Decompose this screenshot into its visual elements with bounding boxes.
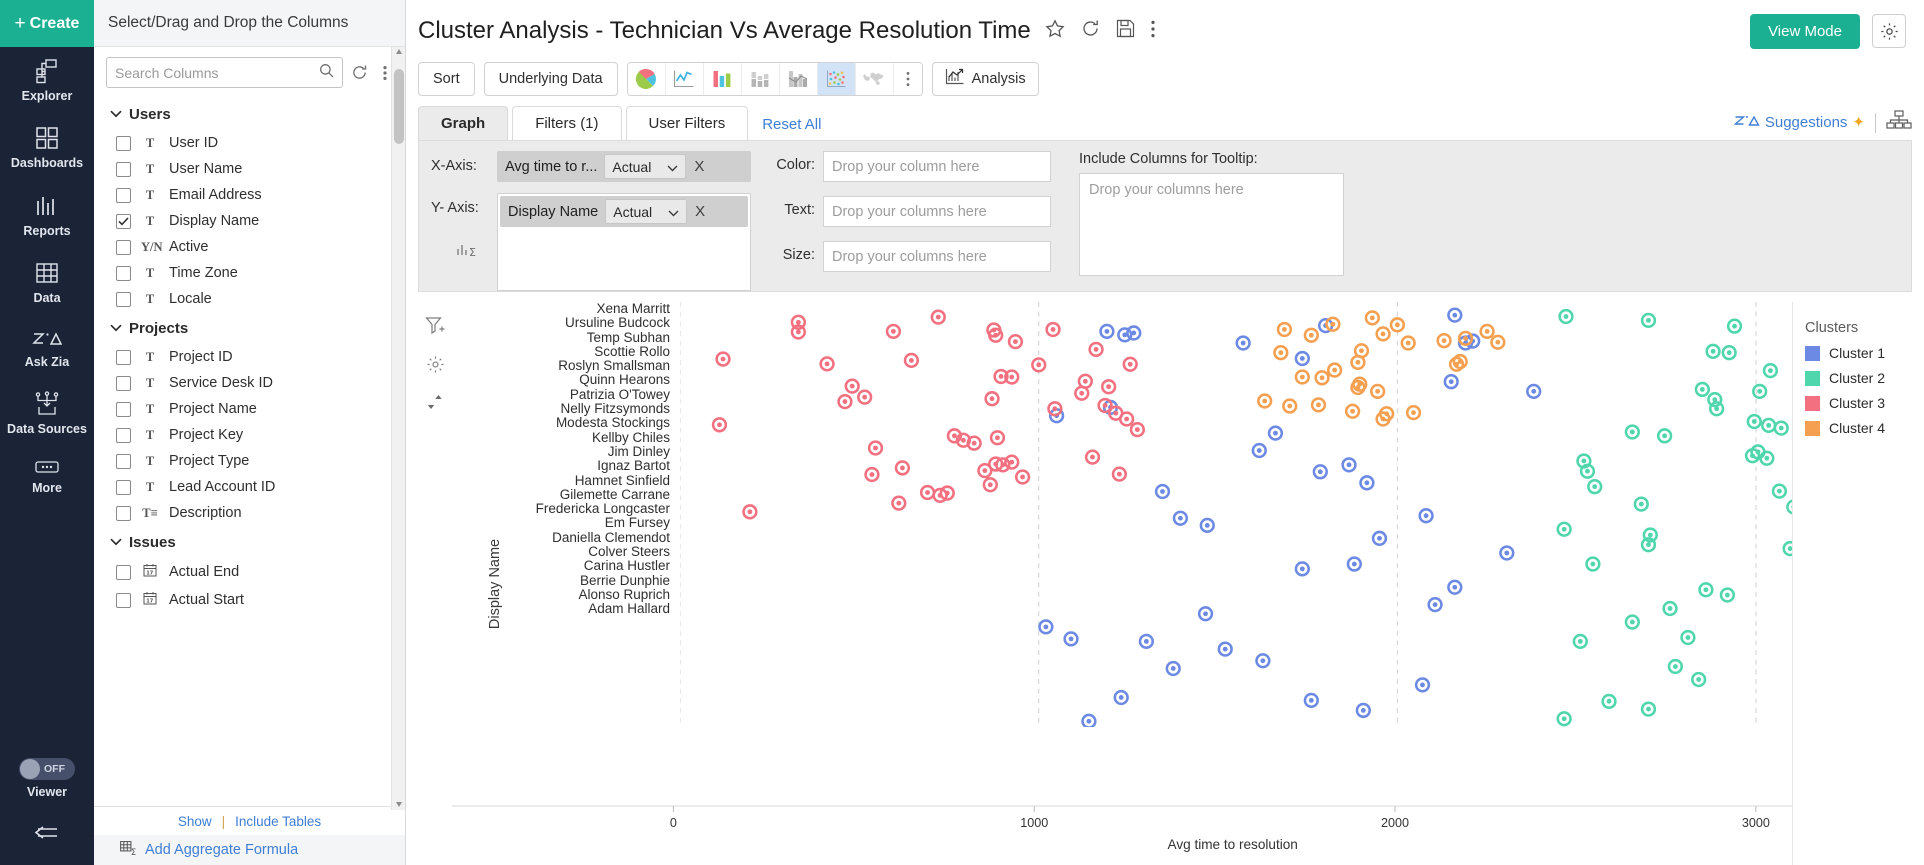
column-checkbox[interactable] xyxy=(116,454,131,469)
scatter-point[interactable] xyxy=(1560,310,1573,323)
scatter-point[interactable] xyxy=(1491,336,1504,349)
y-axis-pillbox[interactable]: Display Name Actual X xyxy=(497,193,751,291)
y-tick-label: Nelly Fitzsymonds xyxy=(470,402,670,416)
scatter-point[interactable] xyxy=(839,395,852,408)
sidebar-item-data[interactable]: Data xyxy=(0,249,94,316)
scroll-down-arrow[interactable] xyxy=(396,802,402,807)
sidebar-item-explorer[interactable]: Explorer xyxy=(0,47,94,114)
add-filter-icon[interactable] xyxy=(425,316,445,341)
scatter-point[interactable] xyxy=(1102,380,1115,393)
column-row[interactable]: TLead Account ID xyxy=(94,474,405,500)
sort-toggle-icon[interactable] xyxy=(426,393,444,416)
viewer-toggle[interactable]: OFF xyxy=(19,758,75,780)
analysis-icon xyxy=(945,68,965,90)
scatter-point[interactable] xyxy=(1118,328,1131,341)
scatter-point[interactable] xyxy=(1090,343,1103,356)
gear-icon[interactable] xyxy=(1872,14,1906,48)
column-checkbox[interactable] xyxy=(116,292,131,307)
column-label: Project Type xyxy=(169,453,249,469)
column-checkbox[interactable] xyxy=(116,162,131,177)
columns-panel: Select/Drag and Drop the Columns xyxy=(94,0,406,865)
column-checkbox[interactable] xyxy=(116,506,131,521)
scatter-point[interactable] xyxy=(986,392,999,405)
scatter-point[interactable] xyxy=(1603,695,1616,708)
scatter-point[interactable] xyxy=(1040,621,1053,634)
svg-text:17: 17 xyxy=(146,571,153,577)
column-label: Project ID xyxy=(169,349,233,365)
column-group-projects[interactable]: Projects xyxy=(94,312,405,344)
scatter-point[interactable] xyxy=(896,462,909,475)
scatter-point[interactable] xyxy=(1707,345,1720,358)
scatter-point[interactable] xyxy=(1296,562,1309,575)
scatter-point[interactable] xyxy=(1527,385,1540,398)
chart-tool-rail xyxy=(418,302,452,865)
x-axis-pillbox[interactable]: Avg time to r... Actual X xyxy=(497,151,751,182)
sidebar-item-ask-zia[interactable]: Ask Zia xyxy=(0,317,94,380)
y-tick-label: Patrizia O'Towey xyxy=(470,388,670,402)
scatter-point[interactable] xyxy=(869,442,882,455)
scatter-point[interactable] xyxy=(978,464,991,477)
scatter-point[interactable] xyxy=(984,478,997,491)
kebab-menu-icon[interactable] xyxy=(1151,20,1155,43)
tab-graph[interactable]: Graph xyxy=(418,106,508,140)
chevron-down-icon xyxy=(668,204,679,220)
scatter-point[interactable] xyxy=(1420,509,1433,522)
scatter-point[interactable] xyxy=(1343,458,1356,471)
scatter-point[interactable] xyxy=(1626,616,1639,629)
data-sources-icon xyxy=(33,391,61,417)
scatter-point[interactable] xyxy=(1635,498,1648,511)
tab-user-filters[interactable]: User Filters xyxy=(626,106,749,140)
refresh-icon[interactable] xyxy=(1081,19,1100,43)
data-icon xyxy=(34,260,60,286)
collapse-sidebar-button[interactable] xyxy=(33,810,61,865)
sidebar-label-explorer: Explorer xyxy=(22,89,73,103)
scatter-point[interactable] xyxy=(1448,309,1461,322)
scatter-point[interactable] xyxy=(1429,598,1442,611)
y-tick-label: Alonso Ruprich xyxy=(470,588,670,602)
scatter-point[interactable] xyxy=(1316,371,1329,384)
bar-chart-icon[interactable] xyxy=(704,63,742,95)
ask-zia-icon xyxy=(32,328,62,350)
y-tick-label: Kellby Chiles xyxy=(470,431,670,445)
scatter-point[interactable] xyxy=(1366,311,1379,324)
scatter-point[interactable] xyxy=(713,418,726,431)
columns-list[interactable]: UsersTUser IDTUser NameTEmail AddressTDi… xyxy=(94,96,405,806)
column-type-icon: T xyxy=(141,292,159,307)
y-axis-dropzone[interactable]: Display Name Actual X xyxy=(497,193,751,291)
column-type-icon: 17 xyxy=(141,591,159,609)
scatter-point[interactable] xyxy=(1253,444,1266,457)
column-label: Project Key xyxy=(169,427,243,443)
scatter-point[interactable] xyxy=(1373,532,1386,545)
scatter-point[interactable] xyxy=(1328,364,1341,377)
scatter-chart-icon[interactable] xyxy=(818,63,856,95)
scatter-point[interactable] xyxy=(1642,314,1655,327)
include-tables-link[interactable]: Include Tables xyxy=(235,814,321,829)
scatter-point[interactable] xyxy=(1626,426,1639,439)
svg-text:Σ: Σ xyxy=(469,246,476,259)
scatter-point[interactable] xyxy=(1586,558,1599,571)
save-icon[interactable] xyxy=(1116,19,1135,43)
sparkle-icon: ✦ xyxy=(1852,118,1865,127)
scatter-point[interactable] xyxy=(1016,471,1029,484)
scatter-point[interactable] xyxy=(1558,712,1571,725)
sidebar-label-data-sources: Data Sources xyxy=(7,422,87,436)
scatter-point[interactable] xyxy=(1500,547,1513,560)
text-dropzone[interactable]: Drop your columns here xyxy=(823,196,1051,227)
scatter-point[interactable] xyxy=(1312,399,1325,412)
svg-text:Σ: Σ xyxy=(131,847,136,856)
legend-item[interactable]: Cluster 3 xyxy=(1805,395,1912,411)
scatter-point[interactable] xyxy=(921,486,934,499)
scatter-point[interactable] xyxy=(1115,691,1128,704)
column-row[interactable]: TProject Name xyxy=(94,396,405,422)
suggestions-label: Suggestions xyxy=(1765,114,1848,131)
sidebar-label-dashboards: Dashboards xyxy=(11,156,83,170)
scatter-point[interactable] xyxy=(1199,607,1212,620)
sidebar-item-dashboards[interactable]: Dashboards xyxy=(0,114,94,181)
x-axis-pill[interactable]: Avg time to r... Actual X xyxy=(497,151,751,182)
x-axis-remove-button[interactable]: X xyxy=(694,158,704,175)
grouped-bar-chart-icon[interactable] xyxy=(780,63,818,95)
divider xyxy=(1875,113,1876,133)
axis-shelf: X-Axis: Avg time to r... Actual X xyxy=(418,140,1912,292)
scatter-point[interactable] xyxy=(1784,542,1792,555)
viewer-label: Viewer xyxy=(27,785,67,799)
zia-icon xyxy=(1734,113,1760,133)
scatter-point[interactable] xyxy=(1588,480,1601,493)
column-label: Actual End xyxy=(169,564,239,580)
scatter-point[interactable] xyxy=(846,380,859,393)
column-checkbox[interactable] xyxy=(116,188,131,203)
scatter-point[interactable] xyxy=(1669,660,1682,673)
hierarchy-icon[interactable] xyxy=(1886,110,1912,135)
y-tick-label: Roslyn Smallsman xyxy=(470,359,670,373)
y-axis-column-name: Display Name xyxy=(508,204,598,220)
x-axis-aggregate-value: Actual xyxy=(612,159,651,175)
scatter-point[interactable] xyxy=(1009,335,1022,348)
reset-all-link[interactable]: Reset All xyxy=(762,116,821,140)
tooltip-columns-dropzone[interactable]: Drop your columns here xyxy=(1079,173,1344,276)
chart-container: Display Name Xena MarrittUrsuline Budcoc… xyxy=(418,302,1912,865)
column-checkbox[interactable] xyxy=(116,593,131,608)
column-row[interactable]: 17Actual Start xyxy=(94,586,405,614)
scatter-point[interactable] xyxy=(887,325,900,338)
scatter-point[interactable] xyxy=(1346,405,1359,418)
scatter-point[interactable] xyxy=(1438,334,1451,347)
scatter-point[interactable] xyxy=(1723,346,1736,359)
column-checkbox[interactable] xyxy=(116,266,131,281)
column-row[interactable]: TProject ID xyxy=(94,344,405,370)
size-field: Size: Drop your columns here xyxy=(769,241,1051,272)
scatter-point[interactable] xyxy=(1357,704,1370,717)
column-checkbox[interactable] xyxy=(116,428,131,443)
analysis-button[interactable]: Analysis xyxy=(932,62,1039,96)
scatter-point[interactable] xyxy=(1775,422,1788,435)
scrollbar-thumb[interactable] xyxy=(394,69,404,144)
scatter-point[interactable] xyxy=(1065,632,1078,645)
column-checkbox[interactable] xyxy=(116,136,131,151)
report-title-bar: Cluster Analysis - Technician Vs Average… xyxy=(406,0,1924,62)
scatter-point[interactable] xyxy=(1402,337,1415,350)
column-checkbox[interactable] xyxy=(116,350,131,365)
column-row[interactable]: TUser ID xyxy=(94,130,405,156)
map-chart-icon[interactable] xyxy=(856,63,894,95)
tab-filters[interactable]: Filters (1) xyxy=(512,106,621,140)
scatter-point[interactable] xyxy=(1258,395,1271,408)
legend-label: Cluster 3 xyxy=(1829,395,1885,411)
column-type-icon: T xyxy=(141,428,159,443)
sort-button[interactable]: Sort xyxy=(418,62,475,96)
scatter-point[interactable] xyxy=(1558,523,1571,536)
scatter-point[interactable] xyxy=(1748,415,1761,428)
scatter-point[interactable] xyxy=(905,354,918,367)
scatter-point[interactable] xyxy=(1219,643,1232,656)
suggestions-button[interactable]: Suggestions ✦ xyxy=(1734,113,1865,133)
column-label: User ID xyxy=(169,135,218,151)
scatter-point[interactable] xyxy=(1664,602,1677,615)
scatter-point[interactable] xyxy=(1448,581,1461,594)
column-group-label: Projects xyxy=(129,320,188,337)
column-label: Description xyxy=(169,505,242,521)
title-icon-group xyxy=(1045,19,1155,44)
explorer-icon xyxy=(34,58,60,84)
scatter-point[interactable] xyxy=(1326,318,1339,331)
scatter-point[interactable] xyxy=(1700,583,1713,596)
y-tick-label: Ignaz Bartot xyxy=(470,459,670,473)
scatter-point[interactable] xyxy=(717,353,730,366)
scatter-point[interactable] xyxy=(1124,358,1137,371)
favorite-star-icon[interactable] xyxy=(1045,19,1065,44)
add-aggregate-formula-button[interactable]: Σ Add Aggregate Formula xyxy=(94,835,405,865)
column-type-icon: T xyxy=(141,402,159,417)
scatter-point[interactable] xyxy=(1416,679,1429,692)
show-link[interactable]: Show xyxy=(178,814,212,829)
column-checkbox[interactable] xyxy=(116,214,131,229)
create-button[interactable]: + Create xyxy=(0,0,94,47)
scatter-point[interactable] xyxy=(1083,715,1096,728)
scatter-point[interactable] xyxy=(1721,589,1734,602)
columns-panel-title: Select/Drag and Drop the Columns xyxy=(108,14,348,32)
column-type-icon: T xyxy=(141,214,159,229)
scatter-point[interactable] xyxy=(1156,485,1169,498)
scatter-point[interactable] xyxy=(1787,501,1792,514)
column-row[interactable]: TDisplay Name xyxy=(94,208,405,234)
line-chart-icon[interactable] xyxy=(666,63,704,95)
scatter-point[interactable] xyxy=(1377,328,1390,341)
column-checkbox[interactable] xyxy=(116,240,131,255)
legend-item[interactable]: Cluster 4 xyxy=(1805,420,1912,436)
column-row[interactable]: TProject Key xyxy=(94,422,405,448)
y-tick-label: Colver Steers xyxy=(470,545,670,559)
y-tick-label: Adam Hallard xyxy=(470,602,670,616)
scatter-point[interactable] xyxy=(1174,512,1187,525)
chart-legend: Clusters Cluster 1Cluster 2Cluster 3Clus… xyxy=(1792,302,1912,865)
column-group-issues[interactable]: Issues xyxy=(94,526,405,558)
column-row[interactable]: TService Desk ID xyxy=(94,370,405,396)
scatter-point[interactable] xyxy=(1481,325,1494,338)
scatter-point[interactable] xyxy=(1237,337,1250,350)
column-row[interactable]: TProject Type xyxy=(94,448,405,474)
column-checkbox[interactable] xyxy=(116,480,131,495)
y-axis-aggregate-value: Actual xyxy=(613,204,652,220)
view-mode-button[interactable]: View Mode xyxy=(1750,14,1860,49)
scatter-point[interactable] xyxy=(1753,385,1766,398)
column-type-icon: Y/N xyxy=(141,240,159,255)
y-axis-remove-button[interactable]: X xyxy=(695,203,705,220)
reports-icon xyxy=(34,193,60,219)
scatter-point[interactable] xyxy=(1348,558,1361,571)
legend-label: Cluster 4 xyxy=(1829,420,1885,436)
scatter-point[interactable] xyxy=(1773,485,1786,498)
legend-swatch xyxy=(1805,371,1820,386)
svg-text:17: 17 xyxy=(146,599,153,605)
columns-scrollbar[interactable] xyxy=(391,47,405,810)
column-row[interactable]: 17Actual End xyxy=(94,558,405,586)
color-dropzone[interactable]: Drop your column here xyxy=(823,151,1051,182)
scatter-point[interactable] xyxy=(1113,468,1126,481)
color-field: Color: Drop your column here xyxy=(769,151,1051,182)
viewer-toggle-group[interactable]: OFF Viewer xyxy=(0,747,94,810)
graph-tabs: Graph Filters (1) User Filters Reset All… xyxy=(406,106,1924,140)
scatter-point[interactable] xyxy=(1682,631,1695,644)
scatter-point[interactable] xyxy=(1305,694,1318,707)
scatter-point[interactable] xyxy=(1296,371,1309,384)
formula-icon: Σ xyxy=(120,841,137,860)
column-checkbox[interactable] xyxy=(116,402,131,417)
scatter-point[interactable] xyxy=(892,497,905,510)
sidebar-item-more[interactable]: More xyxy=(0,447,94,506)
scatter-point[interactable] xyxy=(1764,364,1777,377)
chart-settings-icon[interactable] xyxy=(426,355,445,379)
y-tick-label: Hamnet Sinfield xyxy=(470,474,670,488)
scatter-point[interactable] xyxy=(1101,325,1114,338)
scatter-point[interactable] xyxy=(1445,375,1458,388)
scatter-point[interactable] xyxy=(1140,635,1153,648)
scatter-plot-svg[interactable] xyxy=(680,302,1792,727)
scatter-point[interactable] xyxy=(1760,452,1773,465)
scatter-point[interactable] xyxy=(866,468,879,481)
scatter-point[interactable] xyxy=(1450,358,1463,371)
scatter-point[interactable] xyxy=(1274,346,1287,359)
scatter-point[interactable] xyxy=(1305,329,1318,342)
column-label: Display Name xyxy=(169,213,259,229)
legend-item[interactable]: Cluster 1 xyxy=(1805,345,1912,361)
x-axis-aggregate-select[interactable]: Actual xyxy=(604,154,686,179)
scatter-point[interactable] xyxy=(1642,703,1655,716)
scatter-point[interactable] xyxy=(1371,385,1384,398)
scatter-point[interactable] xyxy=(1283,400,1296,413)
legend-title: Clusters xyxy=(1805,320,1912,336)
scatter-point[interactable] xyxy=(1086,451,1099,464)
scroll-up-arrow[interactable] xyxy=(396,49,402,54)
scatter-point[interactable] xyxy=(1574,635,1587,648)
y-tick-label: Daniella Clemendot xyxy=(470,531,670,545)
column-label: Service Desk ID xyxy=(169,375,273,391)
column-type-icon: T xyxy=(141,162,159,177)
chart-type-group xyxy=(627,62,923,96)
scatter-point[interactable] xyxy=(1391,318,1404,331)
column-row[interactable]: TEmail Address xyxy=(94,182,405,208)
column-row[interactable]: Y/NActive xyxy=(94,234,405,260)
y-tick-label: Modesta Stockings xyxy=(470,416,670,430)
scatter-point[interactable] xyxy=(1269,427,1282,440)
viewer-state: OFF xyxy=(44,763,65,775)
scatter-point[interactable] xyxy=(1361,476,1374,489)
sidebar-item-data-sources[interactable]: Data Sources xyxy=(0,380,94,447)
legend-label: Cluster 1 xyxy=(1829,345,1885,361)
scatter-point[interactable] xyxy=(1407,406,1420,419)
scatter-point[interactable] xyxy=(1120,413,1133,426)
scatter-point[interactable] xyxy=(1762,419,1775,432)
scatter-point[interactable] xyxy=(1131,423,1144,436)
scatter-point[interactable] xyxy=(858,391,871,404)
scatter-point[interactable] xyxy=(1201,519,1214,532)
column-row[interactable]: TLocale xyxy=(94,286,405,312)
scatter-point[interactable] xyxy=(1278,323,1291,336)
legend-item[interactable]: Cluster 2 xyxy=(1805,370,1912,386)
more-chart-types-icon[interactable] xyxy=(894,63,922,95)
column-row[interactable]: TTime Zone xyxy=(94,260,405,286)
column-checkbox[interactable] xyxy=(116,565,131,580)
column-checkbox[interactable] xyxy=(116,376,131,391)
page-title: Cluster Analysis - Technician Vs Average… xyxy=(418,17,1031,45)
scatter-point[interactable] xyxy=(1296,352,1309,365)
scatter-point[interactable] xyxy=(1352,356,1365,369)
y-tick-label: Xena Marritt xyxy=(470,302,670,316)
scatter-point[interactable] xyxy=(1692,673,1705,686)
svg-text:1000: 1000 xyxy=(1020,815,1048,830)
legend-swatch xyxy=(1805,346,1820,361)
y-axis-aggregate-select[interactable]: Actual xyxy=(605,199,687,224)
column-group-users[interactable]: Users xyxy=(94,98,405,130)
main-content: Cluster Analysis - Technician Vs Average… xyxy=(406,0,1924,865)
scatter-point[interactable] xyxy=(1314,465,1327,478)
pie-chart-icon[interactable] xyxy=(628,63,666,95)
scatter-point[interactable] xyxy=(1728,320,1741,333)
search-columns-box[interactable] xyxy=(106,57,343,88)
refresh-columns-icon[interactable] xyxy=(349,61,369,85)
sidebar-item-reports[interactable]: Reports xyxy=(0,182,94,249)
scatter-point[interactable] xyxy=(1256,654,1269,667)
column-group-label: Users xyxy=(129,106,171,123)
scatter-point[interactable] xyxy=(932,311,945,324)
underlying-data-button[interactable]: Underlying Data xyxy=(484,62,618,96)
stacked-bar-chart-icon[interactable] xyxy=(742,63,780,95)
scatter-point[interactable] xyxy=(1075,387,1088,400)
scatter-point[interactable] xyxy=(991,431,1004,444)
header-right-actions: View Mode xyxy=(1750,14,1906,49)
scatter-point[interactable] xyxy=(821,358,834,371)
scatter-point[interactable] xyxy=(1047,323,1060,336)
column-row[interactable]: T≡Description xyxy=(94,500,405,526)
search-input[interactable] xyxy=(115,65,319,81)
y-tick-label: Fredericka Longcaster xyxy=(470,502,670,516)
scatter-point[interactable] xyxy=(1696,383,1709,396)
size-dropzone[interactable]: Drop your columns here xyxy=(823,241,1051,272)
x-axis: 0100020003000Avg time to resolution xyxy=(452,805,1792,865)
column-group-label: Issues xyxy=(129,534,176,551)
column-row[interactable]: TUser Name xyxy=(94,156,405,182)
scatter-point[interactable] xyxy=(1167,662,1180,675)
chevron-down-icon xyxy=(110,105,122,123)
scatter-point[interactable] xyxy=(744,505,757,518)
y-axis-pill[interactable]: Display Name Actual X xyxy=(500,196,748,227)
column-type-icon: T xyxy=(141,454,159,469)
scatter-point[interactable] xyxy=(1710,402,1723,415)
scatter-point[interactable] xyxy=(1658,429,1671,442)
